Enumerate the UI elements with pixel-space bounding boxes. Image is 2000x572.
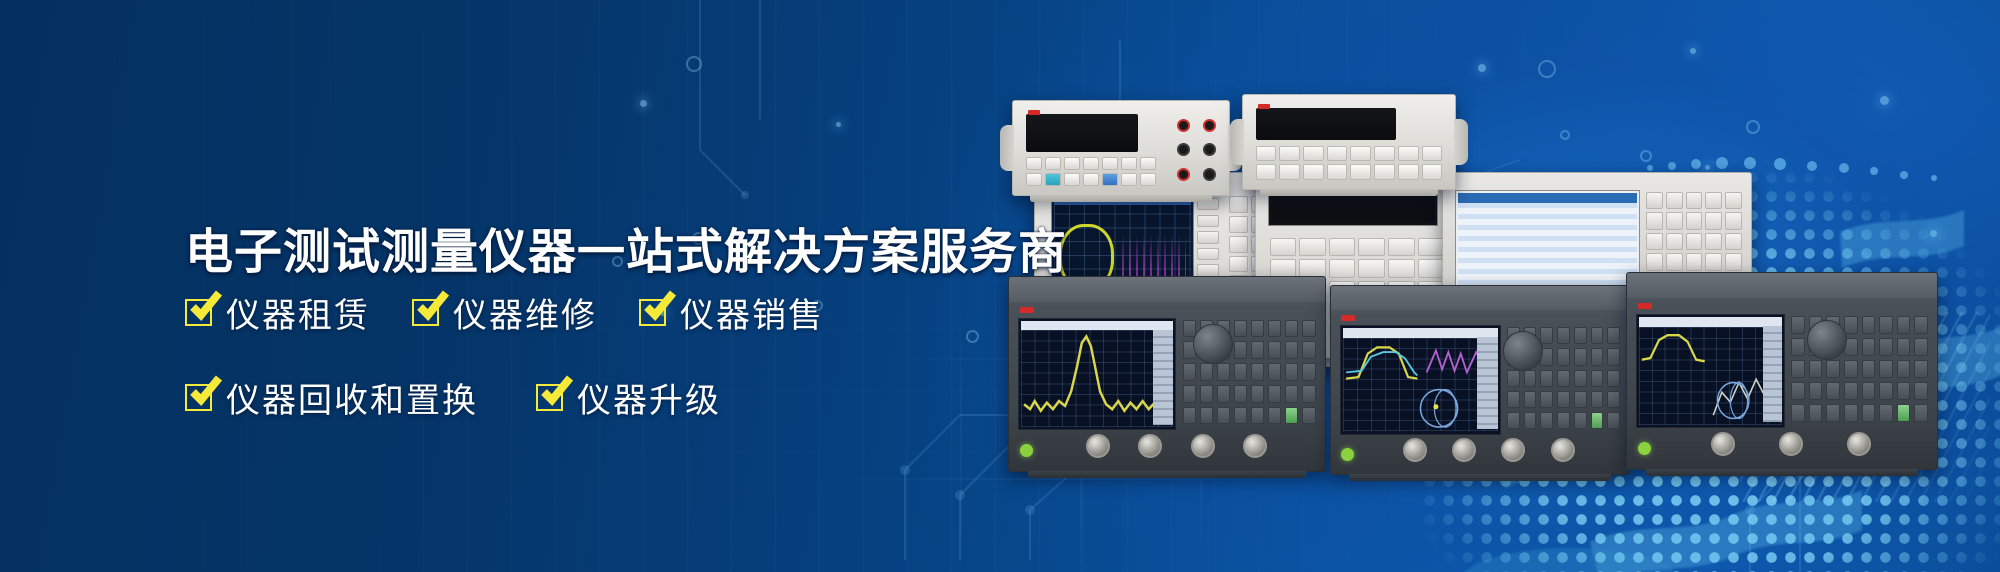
feature-label: 仪器维修 [453, 288, 597, 337]
keypad [1026, 157, 1156, 185]
feature-item-instrument-sales: 仪器销售 [639, 288, 824, 337]
feature-row-1: 仪器租赁 仪器维修 仪器销售 [185, 288, 824, 337]
feature-label: 仪器回收和置换 [226, 373, 478, 422]
chassis-feet [1260, 189, 1438, 196]
input-terminals [1173, 116, 1221, 184]
digital-multimeter-left [1012, 100, 1230, 196]
chassis-feet [1030, 195, 1211, 202]
rotary-knob [1807, 320, 1847, 360]
checkbox-checked-icon [185, 299, 212, 326]
feature-label: 仪器销售 [680, 288, 824, 337]
network-analyzer-right [1626, 272, 1938, 470]
promo-banner: 电子测试测量仪器一站式解决方案服务商 仪器租赁 仪器维修 [0, 0, 2000, 572]
rf-test-ports [1391, 435, 1588, 465]
feature-item-recycling-and-exchange: 仪器回收和置换 [185, 373, 478, 422]
checkbox-checked-icon [639, 299, 666, 326]
banner-text-block: 电子测试测量仪器一站式解决方案服务商 仪器租赁 仪器维修 [0, 0, 1000, 572]
rf-test-ports [1689, 428, 1894, 459]
feature-list: 仪器租赁 仪器维修 仪器销售 [185, 288, 824, 422]
vna-display [1018, 318, 1176, 431]
network-analyzer-ena [1008, 276, 1326, 472]
vna-display [1340, 325, 1501, 434]
feature-label: 仪器租赁 [226, 288, 370, 337]
feature-item-instrument-repair: 仪器维修 [412, 288, 597, 337]
feature-item-instrument-rental: 仪器租赁 [185, 288, 370, 337]
rotary-knob [1503, 331, 1543, 371]
brand-logo [1258, 104, 1270, 109]
digital-multimeter-right [1242, 94, 1456, 190]
keypad [1256, 146, 1443, 180]
brand-logo [1028, 110, 1040, 115]
checkbox-checked-icon [536, 384, 563, 411]
checkbox-checked-icon [185, 384, 212, 411]
side-handle [1454, 119, 1468, 164]
feature-item-instrument-upgrade: 仪器升级 [536, 373, 721, 422]
power-indicator [1020, 444, 1033, 457]
dmm-display [1026, 114, 1138, 152]
feature-label: 仪器升级 [577, 373, 721, 422]
side-handle [1230, 119, 1244, 164]
page-title: 电子测试测量仪器一站式解决方案服务商 [185, 212, 1067, 282]
dmm-display [1256, 108, 1396, 140]
side-handle [1000, 125, 1014, 170]
checkbox-checked-icon [412, 299, 439, 326]
vna-display [1636, 314, 1785, 428]
instrument-cluster-image [1030, 80, 1970, 550]
feature-row-2: 仪器回收和置换 仪器升级 [185, 373, 824, 422]
network-analyzer-pna [1330, 285, 1630, 475]
rotary-knob [1193, 324, 1233, 364]
rf-test-ports [1072, 430, 1281, 461]
